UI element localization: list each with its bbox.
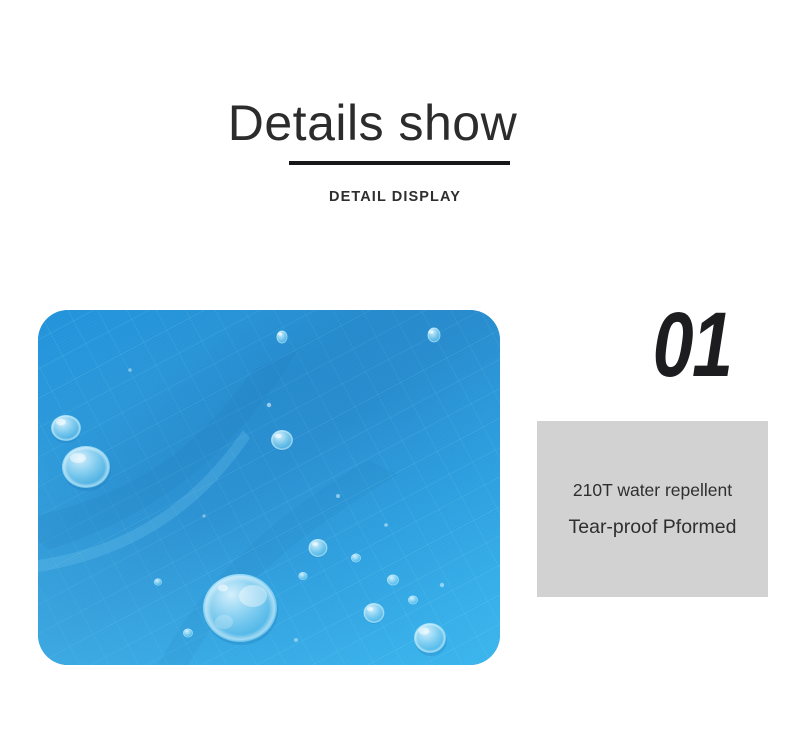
droplet-tiny-right-b [387,575,399,586]
droplet-tiny-top-right-b [428,328,441,343]
droplet-large-center-bottom [203,574,278,645]
spec-line-tear-proof: Tear-proof Pformed [537,514,768,540]
droplet-small-lower-right [364,603,385,624]
spec-panel: 210T water repellent Tear-proof Pformed [537,421,768,597]
spec-line-water-repellent: 210T water repellent [537,478,768,502]
droplet-tiny-top-right-a [277,331,288,344]
droplet-tiny-center-left [154,578,162,585]
page-subtitle: DETAIL DISPLAY [0,187,790,207]
header-block: Details show DETAIL DISPLAY [0,0,790,230]
fabric-photo-illustration [38,310,500,665]
page-title: Details show [0,94,745,152]
details-show-page: Details show DETAIL DISPLAY [0,0,790,734]
droplet-tiny-bottom-left [183,629,193,638]
callout-number-01: 01 [628,295,756,395]
droplet-tiny-right-a [299,572,308,580]
droplet-small-center [271,430,293,451]
droplet-small-upper-left [51,415,81,443]
title-underline-rule [289,161,510,165]
droplet-mid-right [309,539,328,558]
droplet-tiny-right-d [351,554,361,563]
droplet-tiny-right-c [408,596,418,605]
fabric-detail-photo [38,310,500,665]
